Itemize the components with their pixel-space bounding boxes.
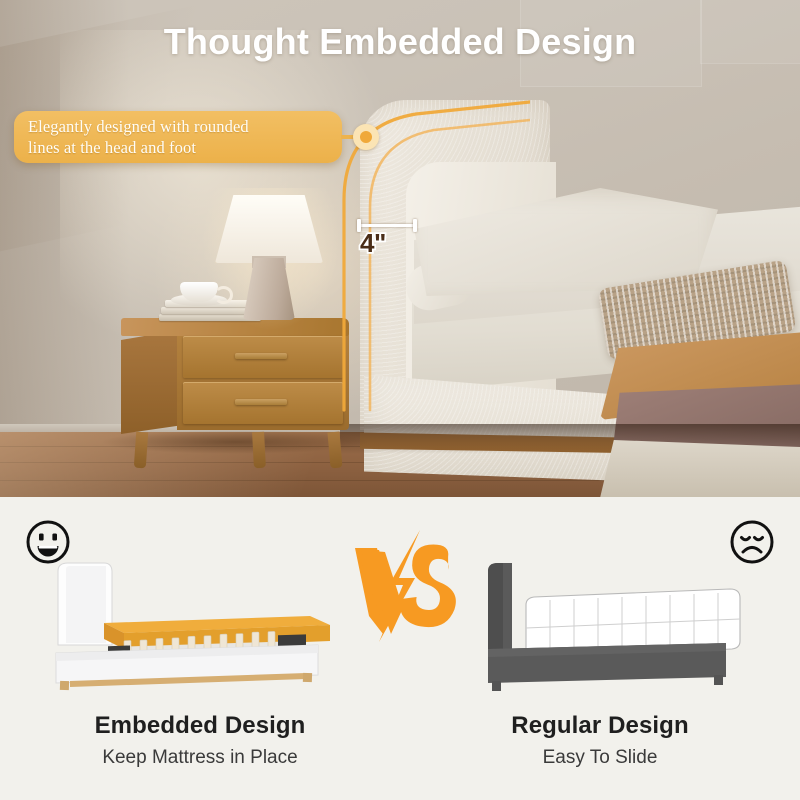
drawer-pull-icon xyxy=(235,399,287,405)
nightstand-leg xyxy=(134,432,148,469)
panel-embedded-design: Embedded Design Keep Mattress in Place xyxy=(0,497,400,800)
vs-lightning-icon xyxy=(345,530,465,645)
callout-line-2: lines at the head and foot xyxy=(28,137,328,158)
nightstand-drawer-bottom[interactable] xyxy=(183,382,343,424)
dimension-label: 4" xyxy=(360,228,386,259)
panel-subtitle-embedded: Keep Mattress in Place xyxy=(0,747,400,769)
lamp-shade xyxy=(215,195,323,263)
nightstand-side-panel xyxy=(121,330,179,434)
nightstand-leg xyxy=(252,432,266,469)
embedded-bed-illustration xyxy=(0,553,400,703)
panel-subtitle-regular: Easy To Slide xyxy=(400,747,800,769)
callout-badge: Elegantly designed with rounded lines at… xyxy=(14,111,342,163)
bedroom-photo-scene: Elegantly designed with rounded lines at… xyxy=(0,0,800,497)
comparison-section: Embedded Design Keep Mattress in Place xyxy=(0,497,800,800)
drawer-pull-icon xyxy=(235,353,287,359)
page-title: Thought Embedded Design xyxy=(0,21,800,63)
panel-title-regular: Regular Design xyxy=(400,712,800,740)
callout-dot-icon xyxy=(353,124,379,150)
callout-line-1: Elegantly designed with rounded xyxy=(28,116,328,137)
area-rug xyxy=(600,440,800,497)
product-feature-image: Elegantly designed with rounded lines at… xyxy=(0,0,800,800)
nightstand-drawer-top[interactable] xyxy=(183,336,343,378)
panel-title-embedded: Embedded Design xyxy=(0,712,400,740)
